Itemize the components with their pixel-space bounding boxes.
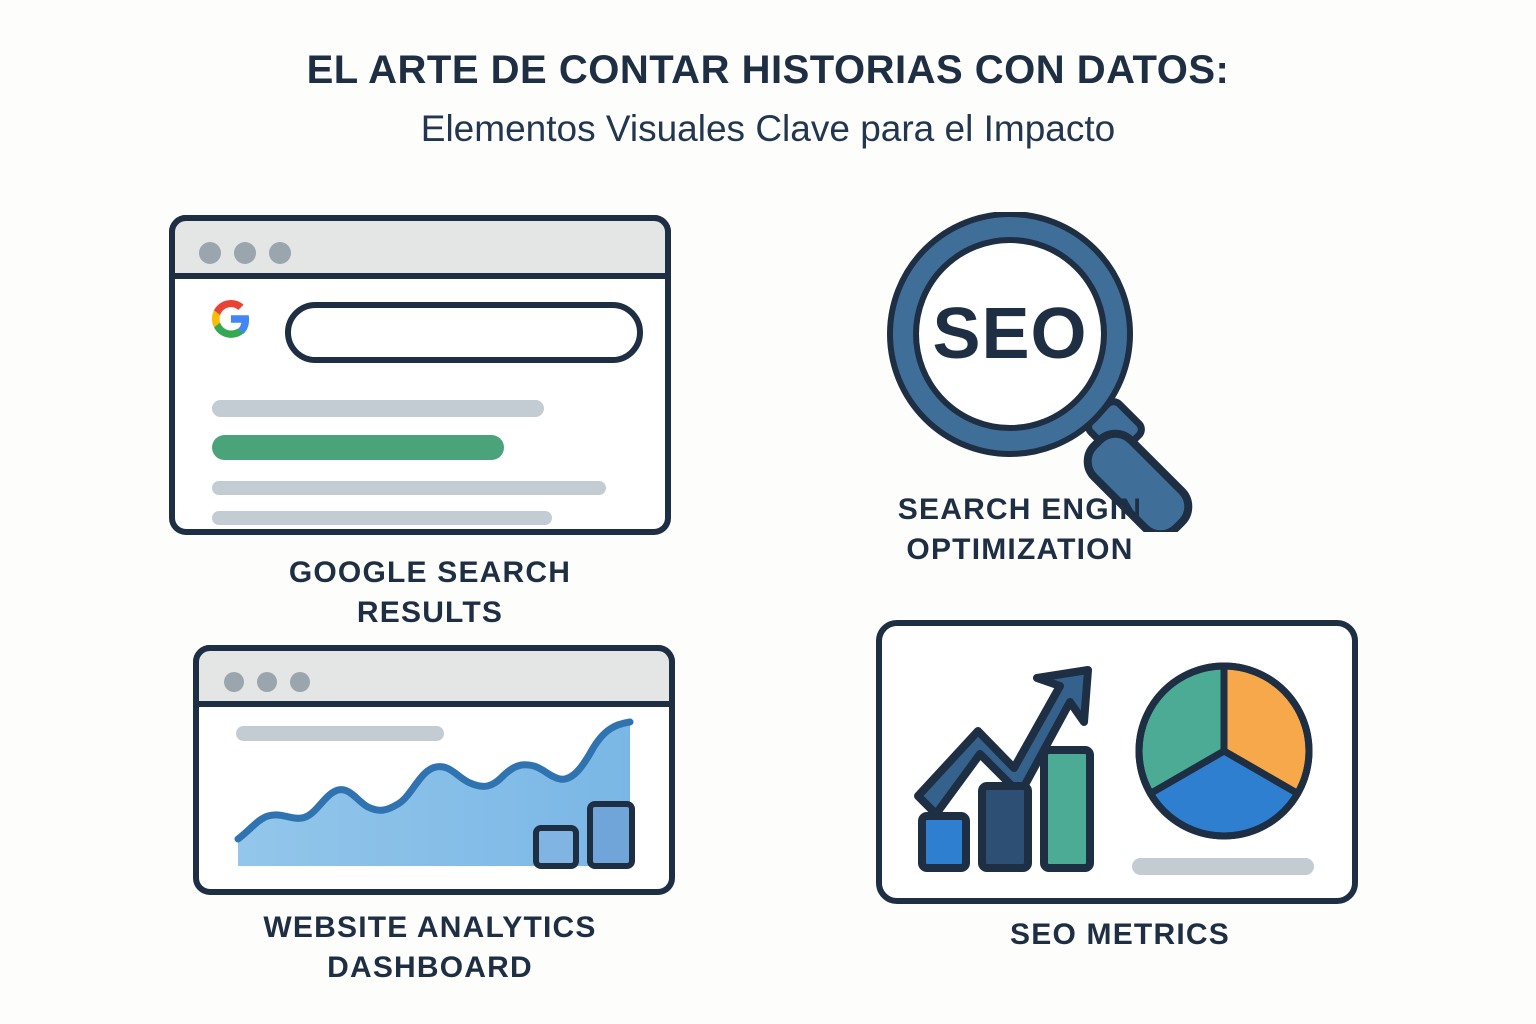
page-subtitle: Elementos Visuales Clave para el Impacto xyxy=(0,107,1536,151)
caption-line-2: OPTIMIZATION xyxy=(820,530,1220,570)
analytics-dashboard-caption: WEBSITE ANALYTICS DASHBOARD xyxy=(150,908,710,987)
caption-line-1: SEARCH ENGIN xyxy=(820,490,1220,530)
seo-magnifier-caption: SEARCH ENGIN OPTIMIZATION xyxy=(820,490,1220,569)
caption-line-2: RESULTS xyxy=(150,593,710,633)
caption-line-1: WEBSITE ANALYTICS xyxy=(150,908,710,948)
seo-magnifier-panel[interactable]: SEO xyxy=(880,212,1220,532)
google-search-panel[interactable] xyxy=(168,214,672,536)
caption-line-1: SEO METRICS xyxy=(930,915,1310,955)
seo-metric-bar-large[interactable] xyxy=(1044,750,1090,868)
window-dot-close-icon[interactable] xyxy=(199,242,221,264)
search-result-bar[interactable] xyxy=(212,511,552,525)
window-dot-maximize-icon[interactable] xyxy=(269,242,291,264)
google-search-caption: GOOGLE SEARCH RESULTS xyxy=(150,553,710,632)
seo-metrics-footer-bar xyxy=(1132,858,1314,875)
seo-metrics-panel[interactable] xyxy=(874,618,1360,906)
window-dot-minimize-icon[interactable] xyxy=(234,242,256,264)
seo-metric-bar-small[interactable] xyxy=(922,816,966,868)
dashboard-placeholder-bar xyxy=(236,726,444,741)
window-dot-maximize-icon[interactable] xyxy=(290,672,310,692)
caption-line-1: GOOGLE SEARCH xyxy=(150,553,710,593)
search-result-bar[interactable] xyxy=(212,481,606,495)
search-result-bar-highlighted[interactable] xyxy=(212,435,504,460)
window-dot-close-icon[interactable] xyxy=(224,672,244,692)
window-dot-minimize-icon[interactable] xyxy=(257,672,277,692)
analytics-overlay-bar[interactable] xyxy=(590,804,632,866)
page-title: EL ARTE DE CONTAR HISTORIAS CON DATOS: xyxy=(0,48,1536,93)
seo-metrics-caption: SEO METRICS xyxy=(930,915,1310,955)
caption-line-2: DASHBOARD xyxy=(150,948,710,988)
seo-pie-chart[interactable] xyxy=(1139,666,1309,836)
infographic-canvas: EL ARTE DE CONTAR HISTORIAS CON DATOS: E… xyxy=(0,0,1536,1024)
search-result-bar[interactable] xyxy=(212,400,544,417)
analytics-overlay-bar[interactable] xyxy=(536,828,576,866)
analytics-dashboard-panel[interactable] xyxy=(192,644,676,896)
seo-lens-label: SEO xyxy=(932,294,1087,374)
title-block: EL ARTE DE CONTAR HISTORIAS CON DATOS: E… xyxy=(0,48,1536,151)
seo-metric-bar-medium[interactable] xyxy=(982,786,1028,868)
search-input[interactable] xyxy=(288,305,640,360)
